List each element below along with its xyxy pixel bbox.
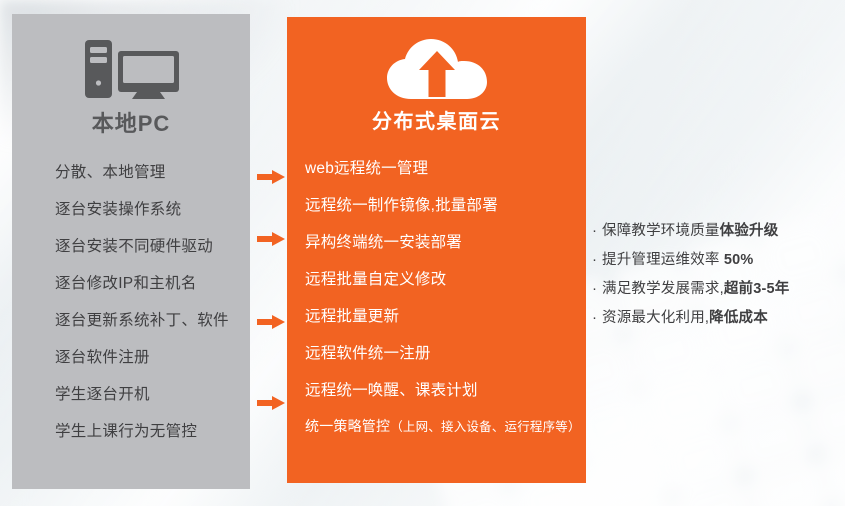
- benefit-item: · 资源最大化利用,降低成本: [592, 306, 840, 335]
- benefit-item: · 提升管理运维效率 50%: [592, 248, 840, 277]
- bullet-icon: ·: [592, 281, 602, 296]
- bullet-icon: ·: [592, 310, 602, 325]
- local-pc-title: 本地PC: [12, 106, 250, 138]
- bullet-icon: ·: [592, 252, 602, 267]
- infographic-canvas: 本地PC 分散、本地管理 逐台安装操作系统 逐台安装不同硬件驱动 逐台修改IP和…: [0, 0, 845, 506]
- list-item: 学生逐台开机: [55, 374, 250, 411]
- arrow-head: [272, 232, 285, 246]
- cloud-upload-icon: [385, 37, 489, 103]
- benefit-item: · 满足教学发展需求,超前3-5年: [592, 277, 840, 306]
- benefit-text-normal: 资源最大化利用,: [602, 310, 709, 326]
- right-arrow-icon: [257, 315, 285, 329]
- benefit-text-bold: 50%: [724, 252, 754, 268]
- list-item: 逐台安装操作系统: [55, 189, 250, 226]
- list-item: 异构终端统一安装部署: [305, 222, 586, 259]
- benefits-list: · 保障教学环境质量体验升级 · 提升管理运维效率 50% · 满足教学发展需求…: [592, 219, 840, 335]
- list-item: 逐台软件注册: [55, 337, 250, 374]
- benefit-item: · 保障教学环境质量体验升级: [592, 219, 840, 248]
- distributed-desktop-cloud-panel: 分布式桌面云 web远程统一管理 远程统一制作镜像,批量部署 异构终端统一安装部…: [287, 17, 586, 483]
- benefit-text-normal: 满足教学发展需求,: [602, 281, 724, 297]
- cloud-feature-list: web远程统一管理 远程统一制作镜像,批量部署 异构终端统一安装部署 远程批量自…: [287, 148, 586, 444]
- benefit-text: 保障教学环境质量体验升级: [602, 219, 778, 240]
- list-item: 逐台更新系统补丁、软件: [55, 300, 250, 337]
- benefit-text: 满足教学发展需求,超前3-5年: [602, 277, 790, 298]
- benefit-text-bold: 降低成本: [709, 310, 768, 326]
- local-pc-header: 本地PC: [12, 14, 250, 138]
- list-item-detail: （上网、接入设备、运行程序等）: [390, 416, 581, 435]
- benefit-text-normal: 保障教学环境质量: [602, 223, 720, 239]
- bullet-icon: ·: [592, 223, 602, 238]
- arrow-head: [272, 170, 285, 184]
- list-item: 统一策略管控（上网、接入设备、运行程序等）: [305, 407, 586, 444]
- list-item: 分散、本地管理: [55, 152, 250, 189]
- arrow-head: [272, 396, 285, 410]
- desktop-pc-icon: [79, 38, 183, 102]
- cloud-title: 分布式桌面云: [287, 105, 586, 134]
- right-arrow-icon: [257, 232, 285, 246]
- local-pc-panel: 本地PC 分散、本地管理 逐台安装操作系统 逐台安装不同硬件驱动 逐台修改IP和…: [12, 14, 250, 489]
- cloud-header: 分布式桌面云: [287, 17, 586, 134]
- list-item-label: 统一策略管控: [305, 416, 390, 436]
- local-pc-item-list: 分散、本地管理 逐台安装操作系统 逐台安装不同硬件驱动 逐台修改IP和主机名 逐…: [12, 152, 250, 448]
- right-arrow-icon: [257, 170, 285, 184]
- right-arrow-icon: [257, 396, 285, 410]
- benefit-text: 资源最大化利用,降低成本: [602, 306, 768, 327]
- list-item: 远程批量自定义修改: [305, 259, 586, 296]
- list-item: web远程统一管理: [305, 148, 586, 185]
- list-item: 逐台安装不同硬件驱动: [55, 226, 250, 263]
- benefit-text-bold: 体验升级: [720, 223, 779, 239]
- benefit-text-bold: 超前3-5年: [724, 281, 790, 297]
- list-item: 远程批量更新: [305, 296, 586, 333]
- list-item: 远程统一制作镜像,批量部署: [305, 185, 586, 222]
- arrow-head: [272, 315, 285, 329]
- benefit-text: 提升管理运维效率 50%: [602, 248, 753, 269]
- benefit-text-normal: 提升管理运维效率: [602, 252, 724, 268]
- list-item: 学生上课行为无管控: [55, 411, 250, 448]
- list-item: 远程软件统一注册: [305, 333, 586, 370]
- list-item: 远程统一唤醒、课表计划: [305, 370, 586, 407]
- list-item: 逐台修改IP和主机名: [55, 263, 250, 300]
